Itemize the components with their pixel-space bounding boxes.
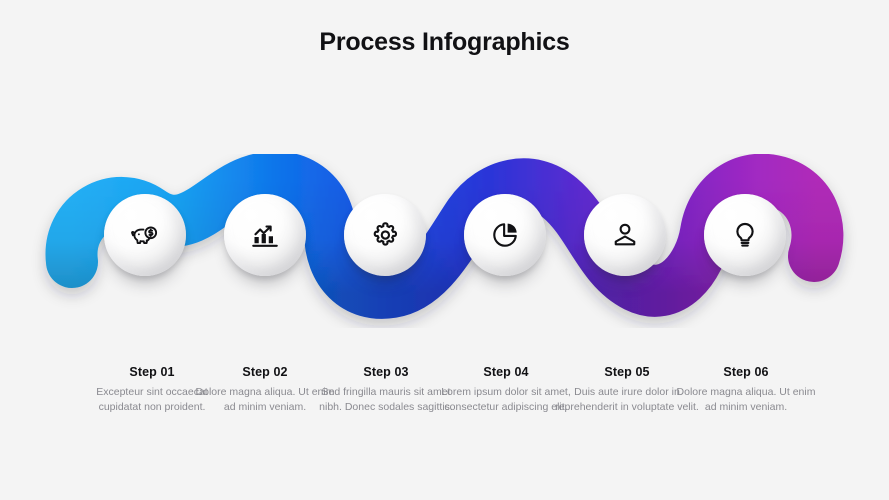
piggy-bank-icon [130, 220, 160, 250]
step-label: Step 06 [671, 365, 821, 379]
step-node-1[interactable] [104, 194, 186, 276]
pie-chart-icon [490, 220, 520, 250]
step-description: Dolore magna aliqua. Ut enim ad minim ve… [671, 385, 821, 415]
gear-icon [370, 220, 400, 250]
caption-step-6: Step 06 Dolore magna aliqua. Ut enim ad … [671, 365, 821, 415]
step-node-4[interactable] [464, 194, 546, 276]
step-node-6[interactable] [704, 194, 786, 276]
infographic-canvas: Process Infographics [0, 0, 889, 500]
user-person-icon [610, 220, 640, 250]
step-node-3[interactable] [344, 194, 426, 276]
step-node-2[interactable] [224, 194, 306, 276]
bar-chart-growth-icon [250, 220, 280, 250]
lightbulb-icon [730, 220, 760, 250]
step-node-5[interactable] [584, 194, 666, 276]
